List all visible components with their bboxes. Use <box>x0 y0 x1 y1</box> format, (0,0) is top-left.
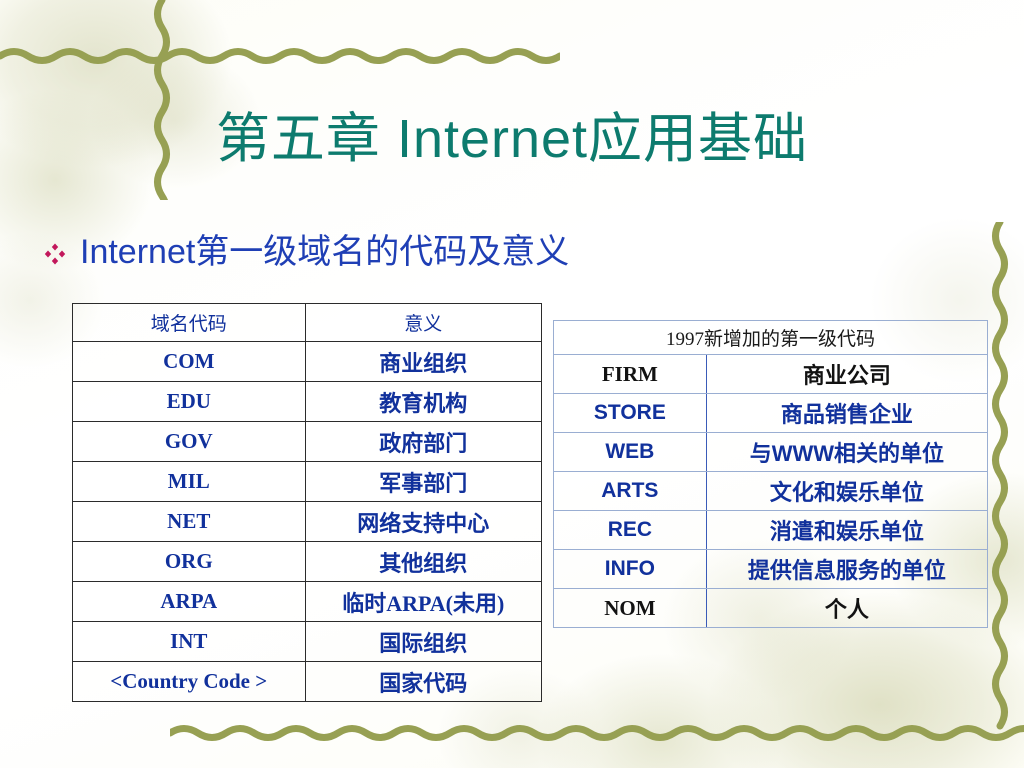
cell-domain-code: INT <box>73 622 306 662</box>
wavy-vine-left-icon <box>142 0 182 200</box>
cell-domain-meaning: 教育机构 <box>305 382 542 422</box>
table-row: GOV政府部门 <box>73 422 542 462</box>
cell-new-code-meaning: 消遣和娱乐单位 <box>706 511 987 550</box>
cell-new-code: NOM <box>554 589 707 628</box>
cell-new-code-meaning: 文化和娱乐单位 <box>706 472 987 511</box>
cell-domain-code: GOV <box>73 422 306 462</box>
cell-domain-meaning: 临时ARPA(未用) <box>305 582 542 622</box>
cell-domain-code: EDU <box>73 382 306 422</box>
table-header-row: 域名代码 意义 <box>73 304 542 342</box>
cell-new-code: ARTS <box>554 472 707 511</box>
table-row: STORE商品销售企业 <box>554 394 988 433</box>
table-caption-row: 1997新增加的第一级代码 <box>554 321 988 355</box>
cell-domain-meaning: 网络支持中心 <box>305 502 542 542</box>
cell-domain-meaning: 军事部门 <box>305 462 542 502</box>
cell-new-code-meaning: 与WWW相关的单位 <box>706 433 987 472</box>
header-cell-meaning: 意义 <box>305 304 542 342</box>
cell-new-code-meaning: 商品销售企业 <box>706 394 987 433</box>
cell-new-code: FIRM <box>554 355 707 394</box>
cell-domain-code: ORG <box>73 542 306 582</box>
cell-domain-code: NET <box>73 502 306 542</box>
new-1997-code-table-caption: 1997新增加的第一级代码 <box>554 321 988 355</box>
slide-title: 第五章 Internet应用基础 <box>0 108 1024 170</box>
cell-domain-meaning: 商业组织 <box>305 342 542 382</box>
cell-domain-code: MIL <box>73 462 306 502</box>
cell-new-code: REC <box>554 511 707 550</box>
header-cell-code: 域名代码 <box>73 304 306 342</box>
new-1997-code-table: 1997新增加的第一级代码 FIRM商业公司STORE商品销售企业WEB与WWW… <box>553 320 988 628</box>
slide-canvas: 第五章 Internet应用基础 Internet第一级域名的代码及意义 域名代… <box>0 0 1024 768</box>
cell-domain-meaning: 国际组织 <box>305 622 542 662</box>
table-row: INT国际组织 <box>73 622 542 662</box>
cell-domain-meaning: 其他组织 <box>305 542 542 582</box>
table-row: NET网络支持中心 <box>73 502 542 542</box>
table-row: <Country Code >国家代码 <box>73 662 542 702</box>
table-row: EDU教育机构 <box>73 382 542 422</box>
table-row: FIRM商业公司 <box>554 355 988 394</box>
cell-domain-code: ARPA <box>73 582 306 622</box>
new-1997-code-table-head: 1997新增加的第一级代码 <box>554 321 988 355</box>
table-row: INFO提供信息服务的单位 <box>554 550 988 589</box>
table-row: MIL军事部门 <box>73 462 542 502</box>
cell-domain-code: <Country Code > <box>73 662 306 702</box>
table-row: REC消遣和娱乐单位 <box>554 511 988 550</box>
diamond-cluster-bullet-icon <box>44 243 66 265</box>
table-row: COM商业组织 <box>73 342 542 382</box>
table-row: ARPA临时ARPA(未用) <box>73 582 542 622</box>
domain-code-table: 域名代码 意义 COM商业组织EDU教育机构GOV政府部门MIL军事部门NET网… <box>72 303 542 702</box>
cell-domain-code: COM <box>73 342 306 382</box>
cell-new-code-meaning: 个人 <box>706 589 987 628</box>
table-row: ORG其他组织 <box>73 542 542 582</box>
cell-new-code: STORE <box>554 394 707 433</box>
cell-new-code-meaning: 商业公司 <box>706 355 987 394</box>
bullet-heading: Internet第一级域名的代码及意义 <box>44 232 569 272</box>
table-row: WEB与WWW相关的单位 <box>554 433 988 472</box>
cell-new-code-meaning: 提供信息服务的单位 <box>706 550 987 589</box>
cell-domain-meaning: 政府部门 <box>305 422 542 462</box>
domain-code-table-body: COM商业组织EDU教育机构GOV政府部门MIL军事部门NET网络支持中心ORG… <box>73 342 542 702</box>
new-1997-code-table-body: FIRM商业公司STORE商品销售企业WEB与WWW相关的单位ARTS文化和娱乐… <box>554 355 988 628</box>
cell-new-code: INFO <box>554 550 707 589</box>
bullet-heading-text: Internet第一级域名的代码及意义 <box>80 232 569 272</box>
table-row: NOM个人 <box>554 589 988 628</box>
table-row: ARTS文化和娱乐单位 <box>554 472 988 511</box>
cell-new-code: WEB <box>554 433 707 472</box>
wavy-vine-top-icon <box>0 38 560 72</box>
wavy-vine-bottom-icon <box>170 715 1024 749</box>
cell-domain-meaning: 国家代码 <box>305 662 542 702</box>
domain-code-table-head: 域名代码 意义 <box>73 304 542 342</box>
